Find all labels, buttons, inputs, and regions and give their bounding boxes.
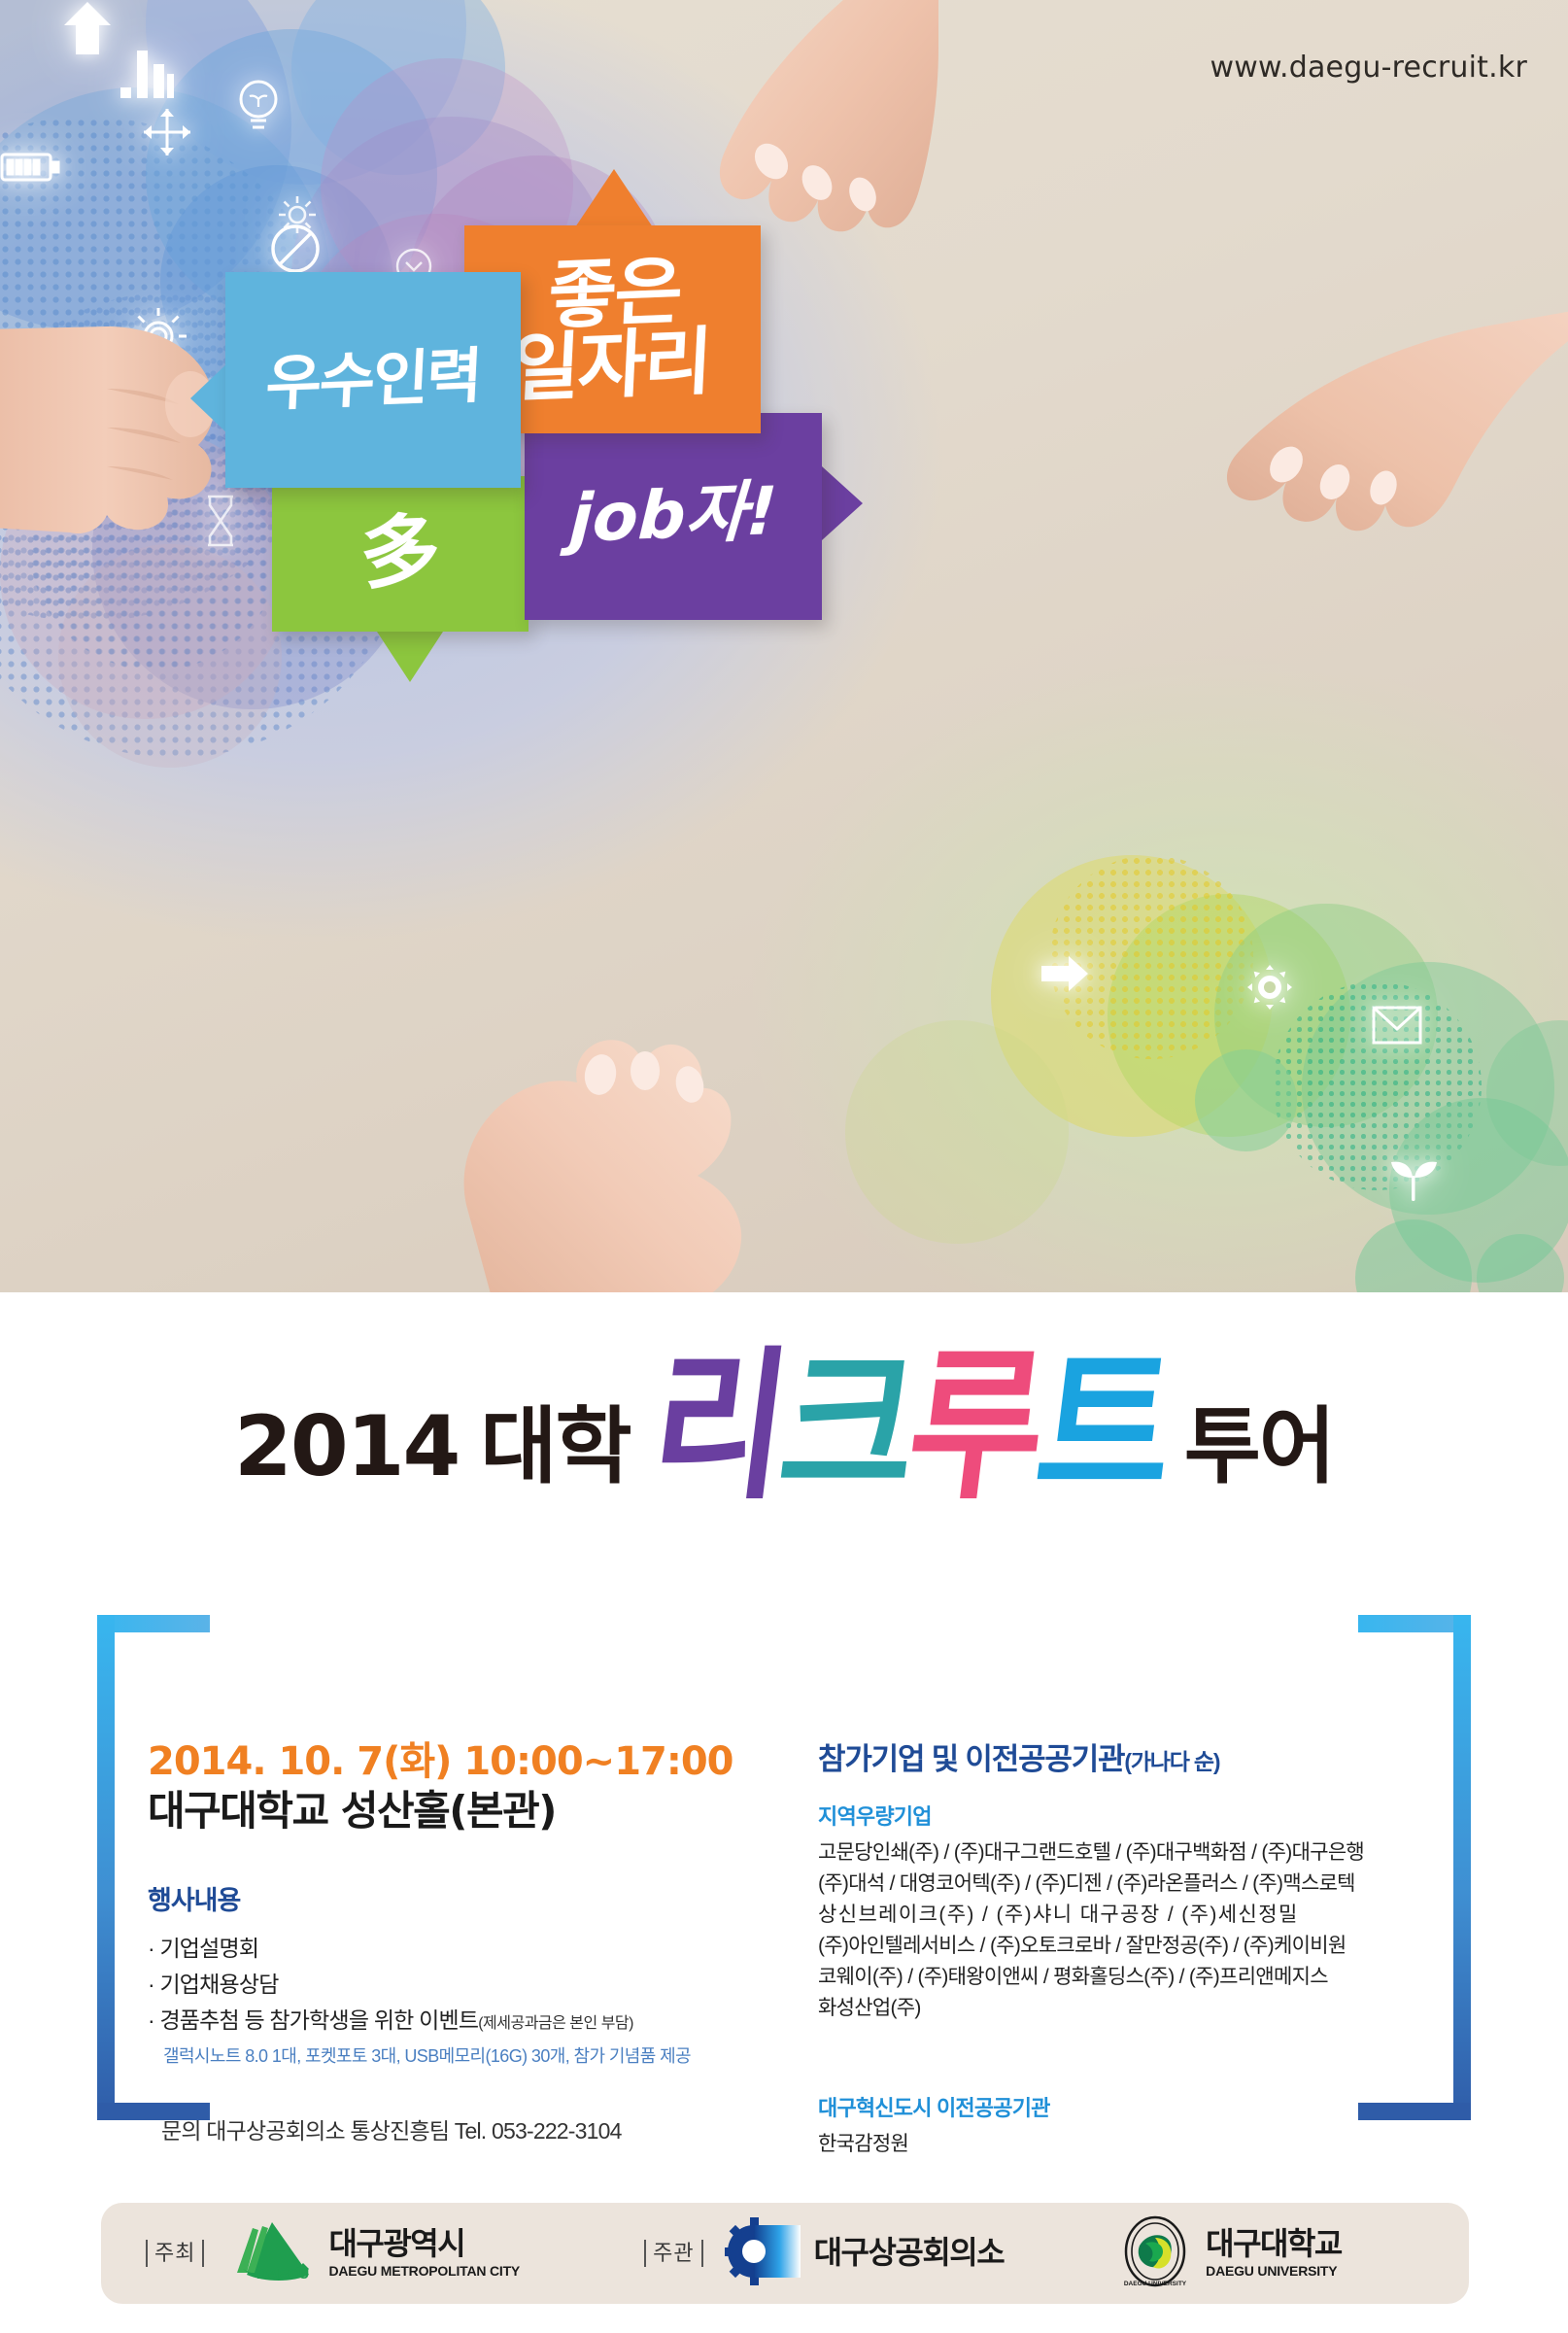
speech-bubble-purple-text: job자! <box>568 480 778 553</box>
university-name-kr: 대구대학교 <box>1206 2228 1342 2261</box>
dcci-logo-icon <box>725 2217 801 2290</box>
envelope-icon <box>1372 1006 1422 1045</box>
organizer-name: 대구상공회의소 <box>814 2237 1005 2270</box>
hand-bottom-left <box>437 991 826 1292</box>
university-name: 대구대학교 DAEGU UNIVERSITY <box>1206 2228 1342 2279</box>
move-arrows-icon <box>140 105 194 159</box>
leaf-icon <box>1387 1156 1440 1203</box>
daegu-university-seal-icon: DAEGU UNIVERSITY <box>1118 2214 1192 2293</box>
bokeh-circle <box>845 1020 1069 1244</box>
svg-text:DAEGU: DAEGU <box>256 2266 309 2282</box>
university-group: DAEGU UNIVERSITY 대구대학교 DAEGU UNIVERSITY <box>1118 2214 1342 2293</box>
bokeh-circle <box>1108 894 1350 1137</box>
speech-bubble-green-text: 多 <box>358 513 442 594</box>
cog-icon <box>1247 965 1292 1010</box>
bokeh-circle <box>1195 1049 1297 1151</box>
frame-right-vertical <box>1453 1615 1471 2120</box>
list-item: 고문당인쇄(주) / (주)대구그랜드호텔 / (주)대구백화점 / (주)대구… <box>818 1837 1440 1869</box>
bokeh-circle <box>291 0 505 175</box>
list-item: · 기업채용상담 <box>148 1967 769 2003</box>
title-brand-char-2: 크 <box>772 1353 919 1503</box>
bokeh-circle <box>991 855 1273 1137</box>
frame-bottom-right-horizontal <box>1358 2103 1471 2120</box>
host-name-kr: 대구광역시 <box>328 2228 520 2261</box>
title-brand-char-3: 루 <box>901 1353 1047 1503</box>
list-item: 한국감정원 <box>818 2129 1440 2160</box>
participants-heading-note: (가나다 순) <box>1124 1749 1219 1774</box>
halftone-circle <box>1273 981 1482 1190</box>
organizer-name-kr: 대구상공회의소 <box>814 2237 1005 2270</box>
bokeh-circle <box>1486 1020 1568 1166</box>
bokeh-circle <box>58 544 282 768</box>
organizer-group: 주관 <box>644 2217 1004 2290</box>
participants-heading-main: 참가기업 및 이전공공기관 <box>818 1742 1124 1776</box>
organizer-tag: 주관 <box>644 2240 702 2267</box>
prize-details: 갤럭시노트 8.0 1대, 포켓포토 3대, USB메모리(16G) 30개, … <box>163 2042 769 2068</box>
battery-icon <box>0 151 60 184</box>
list-item: (주)아인텔레서비스 / (주)오토크로바 / 잘만정공(주) / (주)케이비… <box>818 1931 1440 1962</box>
public-institutions-list: 한국감정원 <box>818 2129 1440 2160</box>
host-group: 주최 DAEGU 대구광역시 DAEGU METROPOLITAN CITY <box>146 2218 520 2289</box>
page-title: 2014 대학 리 크 루 트 투어 <box>0 1360 1568 1494</box>
speech-bubble-green: 多 <box>272 476 528 632</box>
list-item: · 경품추첨 등 참가학생을 위한 이벤트(제세공과금은 본인 부담) <box>148 2003 769 2039</box>
bokeh-circle <box>146 0 466 185</box>
bokeh-circle <box>1389 1098 1568 1283</box>
svg-text:DAEGU UNIVERSITY: DAEGU UNIVERSITY <box>1124 2281 1187 2287</box>
host-name-en: DAEGU METROPOLITAN CITY <box>328 2263 520 2279</box>
list-item: · 기업설명회 <box>148 1931 769 1967</box>
host-tag: 주최 <box>146 2240 204 2267</box>
bubble-tail-green-bottom <box>377 632 443 682</box>
university-name-en: DAEGU UNIVERSITY <box>1206 2263 1342 2279</box>
hourglass-icon <box>204 494 237 548</box>
hero-banner: 多 job자! 좋은 일자리 우수인력 www.daegu-recruit.kr <box>0 0 1568 1292</box>
public-institutions-heading: 대구혁신도시 이전공공기관 <box>818 2091 1440 2122</box>
program-item-3: · 경품추첨 등 참가학생을 위한 이벤트 <box>148 2007 478 2033</box>
event-program-list: · 기업설명회 · 기업채용상담 · 경품추첨 등 참가학생을 위한 이벤트(제… <box>148 1931 769 2069</box>
frame-bottom-left-horizontal <box>97 2103 210 2120</box>
speech-bubble-purple: job자! <box>525 413 822 620</box>
hand-right <box>1096 292 1568 617</box>
event-info-column: 2014. 10. 7(화) 10:00~17:00 대구대학교 성산홀(본관)… <box>148 1739 769 2145</box>
section-spacer <box>818 2023 1440 2070</box>
list-item: 상신브레이크(주) / (주)샤니 대구공장 / (주)세신정밀 <box>818 1900 1440 1931</box>
speech-bubble-blue: 우수인력 <box>225 272 521 488</box>
title-brand-char-4: 트 <box>1029 1353 1176 1503</box>
arrow-up-icon <box>62 0 113 56</box>
list-item: (주)대석 / 대영코어텍(주) / (주)디젠 / (주)라온플러스 / (주… <box>818 1869 1440 1900</box>
title-brand-char-1: 리 <box>644 1353 791 1503</box>
bubble-tail-orange-top <box>575 169 653 227</box>
participants-heading: 참가기업 및 이전공공기관(가나다 순) <box>818 1734 1440 1778</box>
lightbulb-icon <box>236 78 281 132</box>
list-item: 코웨이(주) / (주)태왕이앤씨 / 평화홀딩스(주) / (주)프리앤메지스 <box>818 1962 1440 1993</box>
local-companies-heading: 지역우량기업 <box>818 1800 1440 1831</box>
event-program-heading: 행사내용 <box>148 1879 769 1917</box>
event-datetime: 2014. 10. 7(화) 10:00~17:00 <box>148 1739 769 1785</box>
website-url[interactable]: www.daegu-recruit.kr <box>1210 51 1527 85</box>
sponsor-footer: 주최 DAEGU 대구광역시 DAEGU METROPOLITAN CITY 주… <box>101 2203 1469 2304</box>
bokeh-circle <box>1214 904 1438 1127</box>
speech-bubble-orange-text: 좋은 일자리 <box>510 254 716 406</box>
no-entry-icon <box>270 223 321 274</box>
program-item-2: · 기업채용상담 <box>148 1972 279 1997</box>
local-companies-list: 고문당인쇄(주) / (주)대구그랜드호텔 / (주)대구백화점 / (주)대구… <box>818 1837 1440 2023</box>
title-tour: 투어 <box>1184 1405 1334 1494</box>
gear-icon <box>277 194 318 235</box>
bokeh-circle <box>1302 962 1554 1215</box>
poster-root: 多 job자! 좋은 일자리 우수인력 www.daegu-recruit.kr… <box>0 0 1568 2333</box>
title-year: 2014 <box>234 1405 459 1494</box>
bokeh-circle <box>1355 1219 1472 1292</box>
bokeh-circle <box>1477 1234 1564 1292</box>
bar-chart-icon <box>119 49 175 99</box>
daegu-city-logo-icon: DAEGU <box>225 2218 315 2289</box>
list-item: 화성산업(주) <box>818 1993 1440 2024</box>
frame-left-vertical <box>97 1615 115 2120</box>
contact-info: 문의 대구상공회의소 통상진흥팀 Tel. 053-222-3104 <box>161 2112 769 2145</box>
arrow-right-icon <box>1040 954 1090 993</box>
event-venue: 대구대학교 성산홀(본관) <box>148 1787 769 1836</box>
bubble-tail-blue-left <box>190 361 229 435</box>
title-univ: 대학 <box>480 1405 630 1494</box>
program-item-3-note: (제세공과금은 본인 부담) <box>478 2015 633 2032</box>
gear-icon <box>128 306 188 366</box>
bubble-tail-purple-right <box>822 466 863 540</box>
halftone-circle <box>1049 855 1253 1059</box>
host-name: 대구광역시 DAEGU METROPOLITAN CITY <box>328 2228 520 2279</box>
participants-column: 참가기업 및 이전공공기관(가나다 순) 지역우량기업 고문당인쇄(주) / (… <box>818 1734 1440 2160</box>
program-item-1: · 기업설명회 <box>148 1936 258 1961</box>
speech-bubble-blue-text: 우수인력 <box>264 346 482 413</box>
